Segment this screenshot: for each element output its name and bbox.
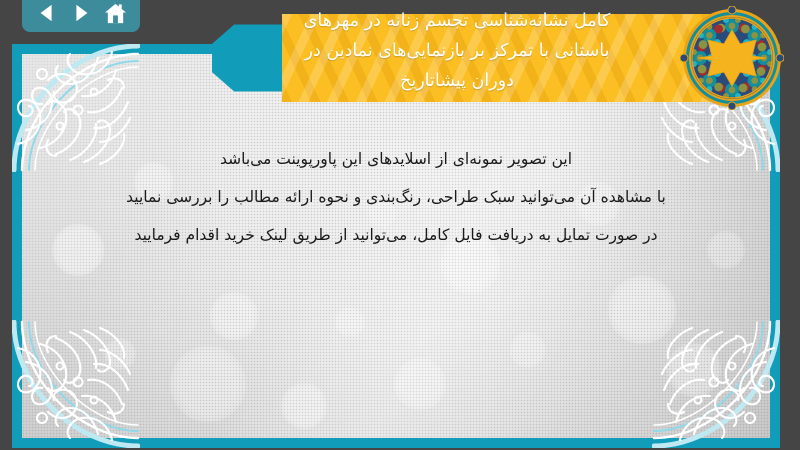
home-icon[interactable] <box>101 0 129 26</box>
bokeh-circle <box>667 343 721 397</box>
triangle-left-icon[interactable] <box>33 0 61 26</box>
bokeh-circle <box>335 307 365 337</box>
bokeh-circle <box>608 276 676 344</box>
bokeh-circle <box>394 358 446 410</box>
triangle-right-icon[interactable] <box>67 0 95 26</box>
persian-rosette-medallion <box>680 6 784 110</box>
body-line-2: با مشاهده آن می‌توانید سبک طراحی، رنگ‌بن… <box>22 178 770 216</box>
title-line-2: باستانی با تمرکز بر بازنمایی‌های نمادین … <box>212 36 702 66</box>
slide-title: کامل نشانه‌شناسی تجسم زنانه در مهرهای با… <box>212 6 712 96</box>
bokeh-circle <box>170 346 246 422</box>
title-line-3: دوران پیشاتاریخ <box>212 66 702 96</box>
title-line-1: کامل نشانه‌شناسی تجسم زنانه در مهرهای <box>212 6 702 36</box>
bokeh-circle <box>210 292 258 340</box>
bokeh-circle <box>281 383 327 429</box>
body-line-3: در صورت تمایل به دریافت فایل کامل، می‌تو… <box>22 216 770 254</box>
slide-title-banner: کامل نشانه‌شناسی تجسم زنانه در مهرهای با… <box>212 14 712 102</box>
bokeh-circle <box>510 332 546 368</box>
slide-navigation-bar[interactable] <box>22 0 140 32</box>
slide-frame: این تصویر نمونه‌ای از اسلایدهای این پاور… <box>12 44 780 448</box>
slide-body-text: این تصویر نمونه‌ای از اسلایدهای این پاور… <box>22 140 770 254</box>
body-line-1: این تصویر نمونه‌ای از اسلایدهای این پاور… <box>22 140 770 178</box>
slide-preview-canvas: این تصویر نمونه‌ای از اسلایدهای این پاور… <box>0 0 800 450</box>
bokeh-circle <box>104 338 136 370</box>
